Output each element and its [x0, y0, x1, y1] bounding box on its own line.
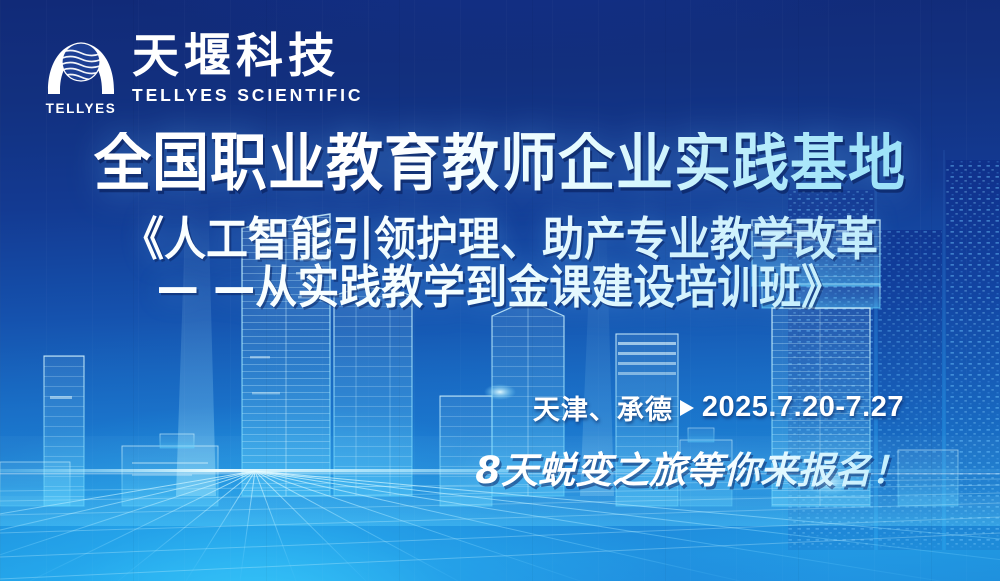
subtitle-line-1: 《人工智能引领护理、助产专业教学改革 [0, 213, 1000, 266]
subtitle-block: 《人工智能引领护理、助产专业教学改革 — —从实践教学到金课建设培训班》 [0, 213, 1000, 309]
event-date-line: 天津、承德 2025.7.20-7.27 [533, 388, 904, 427]
brand-wordmark: 天堰科技 TELLYES SCIENTIFIC [132, 26, 363, 106]
subtitle-line-2: — —从实践教学到金课建设培训班》 [0, 261, 1000, 314]
event-cta: 8天蜕变之旅等你来报名！ [475, 440, 908, 494]
tellyes-dome-globe-logo-icon: TELLYES [44, 26, 118, 114]
event-dates: 2025.7.20-7.27 [702, 391, 904, 424]
headline-block: 全国职业教育教师企业实践基地 《人工智能引领护理、助产专业教学改革 — —从实践… [0, 132, 1000, 309]
brand-name-cn: 天堰科技 [132, 32, 363, 82]
event-location: 天津、承德 [533, 388, 673, 427]
page-title: 全国职业教育教师企业实践基地 [0, 132, 1000, 196]
logo-mark-caption: TELLYES [44, 101, 118, 116]
poster-canvas: TELLYES 天堰科技 TELLYES SCIENTIFIC 全国职业教育教师… [0, 0, 1000, 581]
brand-logo: TELLYES 天堰科技 TELLYES SCIENTIFIC [44, 26, 363, 114]
play-triangle-icon [677, 397, 696, 419]
brand-name-en: TELLYES SCIENTIFIC [132, 85, 363, 106]
play-triangle-svg [677, 397, 696, 419]
